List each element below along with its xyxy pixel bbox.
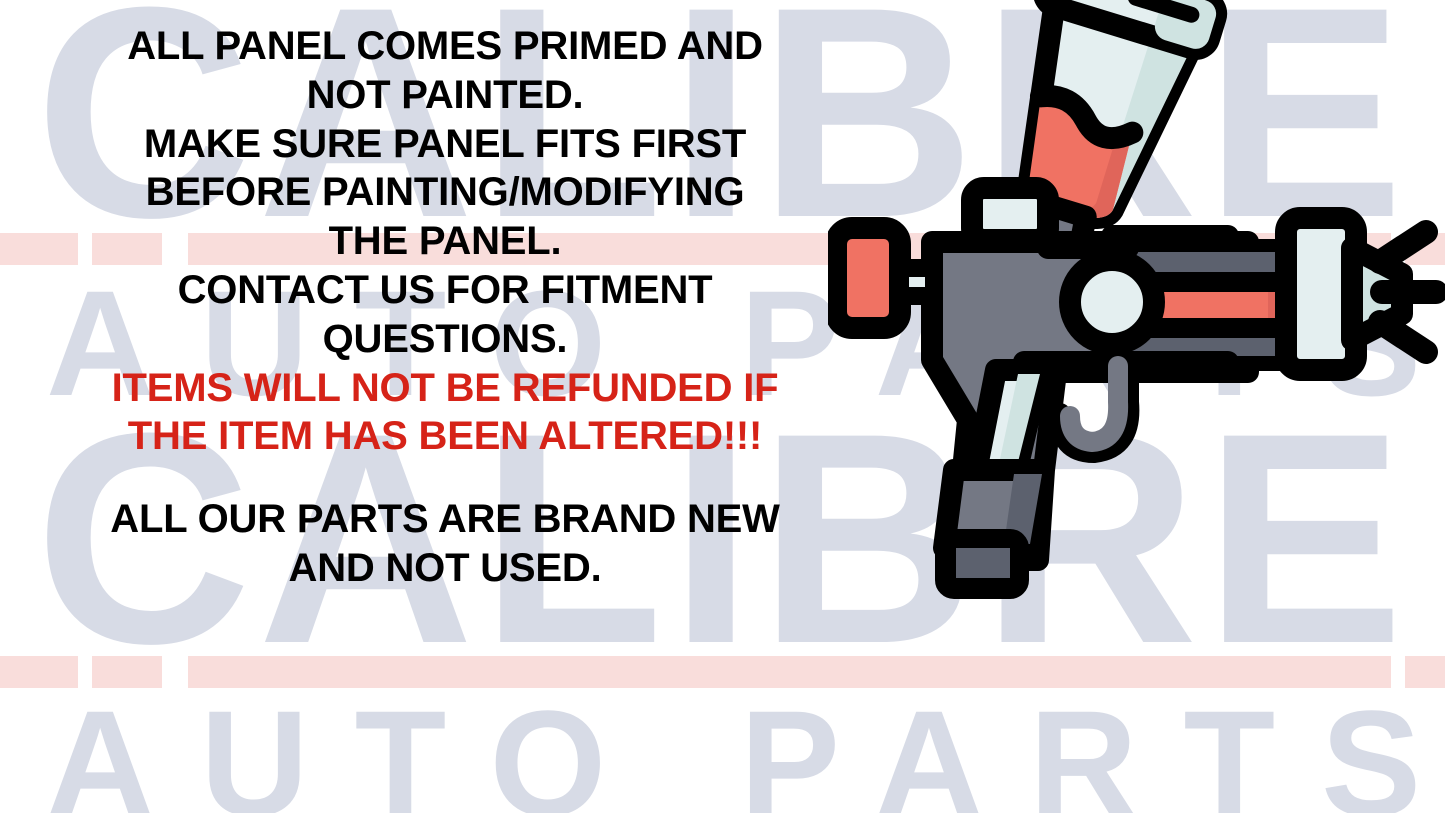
stripe-segment <box>188 656 1391 688</box>
disclaimer-line: ALL PANEL COMES PRIMED AND <box>50 22 840 71</box>
disclaimer-line: THE ITEM HAS BEEN ALTERED!!! <box>50 412 840 461</box>
stripe-gap <box>162 656 188 688</box>
disclaimer-line: ALL OUR PARTS ARE BRAND NEW <box>50 495 840 544</box>
disclaimer-line: AND NOT USED. <box>50 544 840 593</box>
stripe-gap <box>78 656 92 688</box>
text-line-spacer <box>50 461 840 495</box>
disclaimer-line: MAKE SURE PANEL FITS FIRST <box>50 120 840 169</box>
accent-stripe-bottom <box>0 656 1445 688</box>
disclaimer-line: THE PANEL. <box>50 217 840 266</box>
stripe-segment <box>1405 656 1445 688</box>
spray-rays <box>1380 232 1436 352</box>
stripe-gap <box>1391 656 1405 688</box>
disclaimer-text-block: ALL PANEL COMES PRIMED ANDNOT PAINTED.MA… <box>50 22 840 593</box>
spray-gun-graphic <box>836 0 1436 588</box>
disclaimer-line: NOT PAINTED. <box>50 71 840 120</box>
watermark-auto-parts-lower: AUTO PARTS <box>0 688 1445 813</box>
stripe-segment <box>0 656 78 688</box>
disclaimer-line: ITEMS WILL NOT BE REFUNDED IF <box>50 364 840 413</box>
disclaimer-line: QUESTIONS. <box>50 315 840 364</box>
product-disclaimer-banner: CALIBRE AUTO PARTS CALIBRE AUTO PARTS AL… <box>0 0 1445 813</box>
stripe-segment <box>92 656 162 688</box>
disclaimer-line: BEFORE PAINTING/MODIFYING <box>50 168 840 217</box>
spray-gun-icon <box>828 0 1445 600</box>
disclaimer-line: CONTACT US FOR FITMENT <box>50 266 840 315</box>
